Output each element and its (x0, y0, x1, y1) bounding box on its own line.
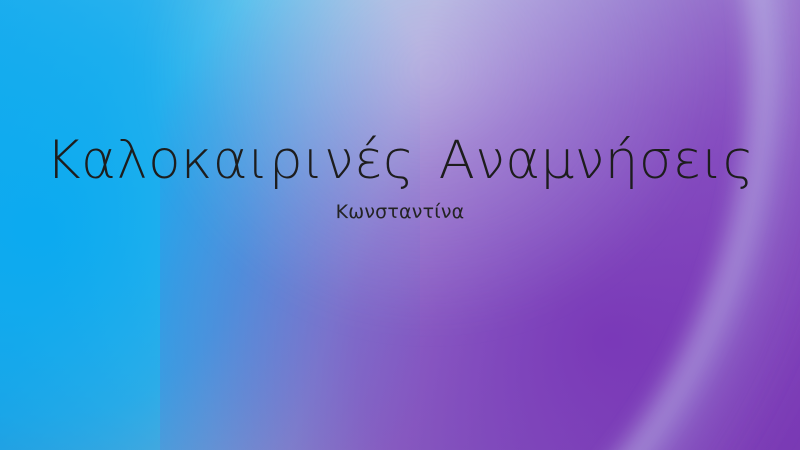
slide-title[interactable]: ΚαλοκαιρινέςΑναμνήσεις (0, 134, 800, 187)
slide-title-word-2: Αναμνήσεις (439, 130, 755, 191)
slide-title-word-1: Καλοκαιρινές (46, 130, 415, 191)
slide-subtitle[interactable]: Κωνσταντίνα (0, 201, 800, 224)
slide-content: ΚαλοκαιρινέςΑναμνήσεις Κωνσταντίνα (0, 0, 800, 450)
title-slide: ΚαλοκαιρινέςΑναμνήσεις Κωνσταντίνα (0, 0, 800, 450)
